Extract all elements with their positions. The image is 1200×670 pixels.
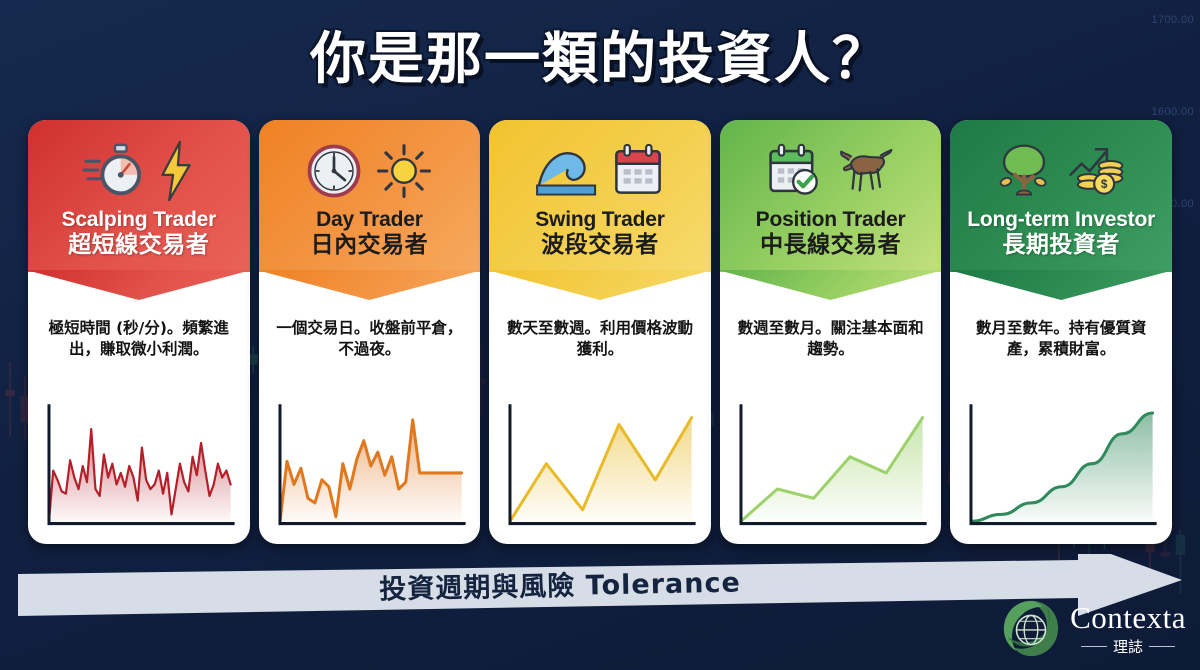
card-icon-group	[259, 134, 481, 208]
sun-icon	[375, 142, 433, 200]
contexta-leaf-globe-logo-icon	[1000, 598, 1062, 660]
lightning-bolt-icon	[156, 140, 196, 202]
card-description: 極短時間 (秒/分)。頻繁進出，賺取微小利潤。	[39, 318, 239, 384]
card-title-zh: 日內交易者	[259, 232, 481, 259]
stopwatch-icon	[82, 140, 144, 202]
trader-card-longterm[interactable]: $ Long-term Investor 長期投資者 數月至數年。持有優質資產，…	[950, 120, 1172, 544]
brand-logo[interactable]: Contexta 理誌	[1000, 598, 1186, 660]
logo-rule-left	[1081, 646, 1107, 647]
card-title-en: Position Trader	[720, 208, 942, 232]
trader-card-scalping[interactable]: Scalping Trader 超短線交易者 極短時間 (秒/分)。頻繁進出，賺…	[28, 120, 250, 544]
card-title-zh: 中長線交易者	[720, 232, 942, 259]
card-icon-group	[28, 134, 250, 208]
trader-card-swing[interactable]: Swing Trader 波段交易者 數天至數週。利用價格波動獲利。	[489, 120, 711, 544]
card-title-zh: 超短線交易者	[28, 232, 250, 259]
card-body: 數週至數月。關注基本面和趨勢。	[720, 272, 942, 544]
background-price-label: 1600.00	[1151, 106, 1194, 118]
card-body: 數月至數年。持有優質資產，累積財富。	[950, 272, 1172, 544]
card-icon-group	[489, 134, 711, 208]
card-header: Scalping Trader 超短線交易者	[28, 120, 250, 272]
card-title-en: Swing Trader	[489, 208, 711, 232]
calendar-check-icon	[767, 142, 823, 200]
brand-logo-text: Contexta 理誌	[1070, 602, 1186, 657]
card-title-zh: 波段交易者	[489, 232, 711, 259]
card-description: 一個交易日。收盤前平倉，不過夜。	[270, 318, 470, 384]
card-header: Position Trader 中長線交易者	[720, 120, 942, 272]
card-icon-group	[720, 134, 942, 208]
svg-text:$: $	[1101, 178, 1108, 191]
card-body: 極短時間 (秒/分)。頻繁進出，賺取微小利潤。	[28, 272, 250, 544]
card-header: Swing Trader 波段交易者	[489, 120, 711, 272]
logo-rule-right	[1149, 646, 1175, 647]
card-description: 數月至數年。持有優質資產，累積財富。	[961, 318, 1161, 384]
trader-type-card-list: Scalping Trader 超短線交易者 極短時間 (秒/分)。頻繁進出，賺…	[28, 120, 1172, 544]
card-description: 數天至數週。利用價格波動獲利。	[500, 318, 700, 384]
calendar-icon	[611, 142, 665, 200]
tree-icon	[995, 142, 1053, 200]
card-header: Day Trader 日內交易者	[259, 120, 481, 272]
page-title: 你是那一類的投資人？	[0, 14, 1200, 95]
brand-subtitle: 理誌	[1113, 636, 1143, 657]
card-icon-group: $	[950, 134, 1172, 208]
brand-name: Contexta	[1070, 602, 1186, 633]
clock-icon	[305, 142, 363, 200]
coins-growth-icon: $	[1065, 142, 1127, 200]
bull-icon	[835, 145, 895, 197]
card-mini-chart	[961, 394, 1161, 538]
card-header: $ Long-term Investor 長期投資者	[950, 120, 1172, 272]
infographic-root: 1700.001600.001500.00 你是那一類的投資人？	[0, 0, 1200, 670]
card-mini-chart	[500, 394, 700, 538]
card-mini-chart	[731, 394, 931, 538]
card-description: 數週至數月。關注基本面和趨勢。	[731, 318, 931, 384]
card-body: 一個交易日。收盤前平倉，不過夜。	[259, 272, 481, 544]
card-title-en: Day Trader	[259, 208, 481, 232]
brand-subtitle-row: 理誌	[1081, 636, 1175, 657]
card-body: 數天至數週。利用價格波動獲利。	[489, 272, 711, 544]
card-title-en: Scalping Trader	[28, 208, 250, 232]
card-title-en: Long-term Investor	[950, 208, 1172, 232]
wave-icon	[535, 142, 599, 200]
card-mini-chart	[39, 394, 239, 538]
trader-card-position[interactable]: Position Trader 中長線交易者 數週至數月。關注基本面和趨勢。	[720, 120, 942, 544]
card-title-zh: 長期投資者	[950, 232, 1172, 259]
card-mini-chart	[270, 394, 470, 538]
trader-card-day[interactable]: Day Trader 日內交易者 一個交易日。收盤前平倉，不過夜。	[259, 120, 481, 544]
